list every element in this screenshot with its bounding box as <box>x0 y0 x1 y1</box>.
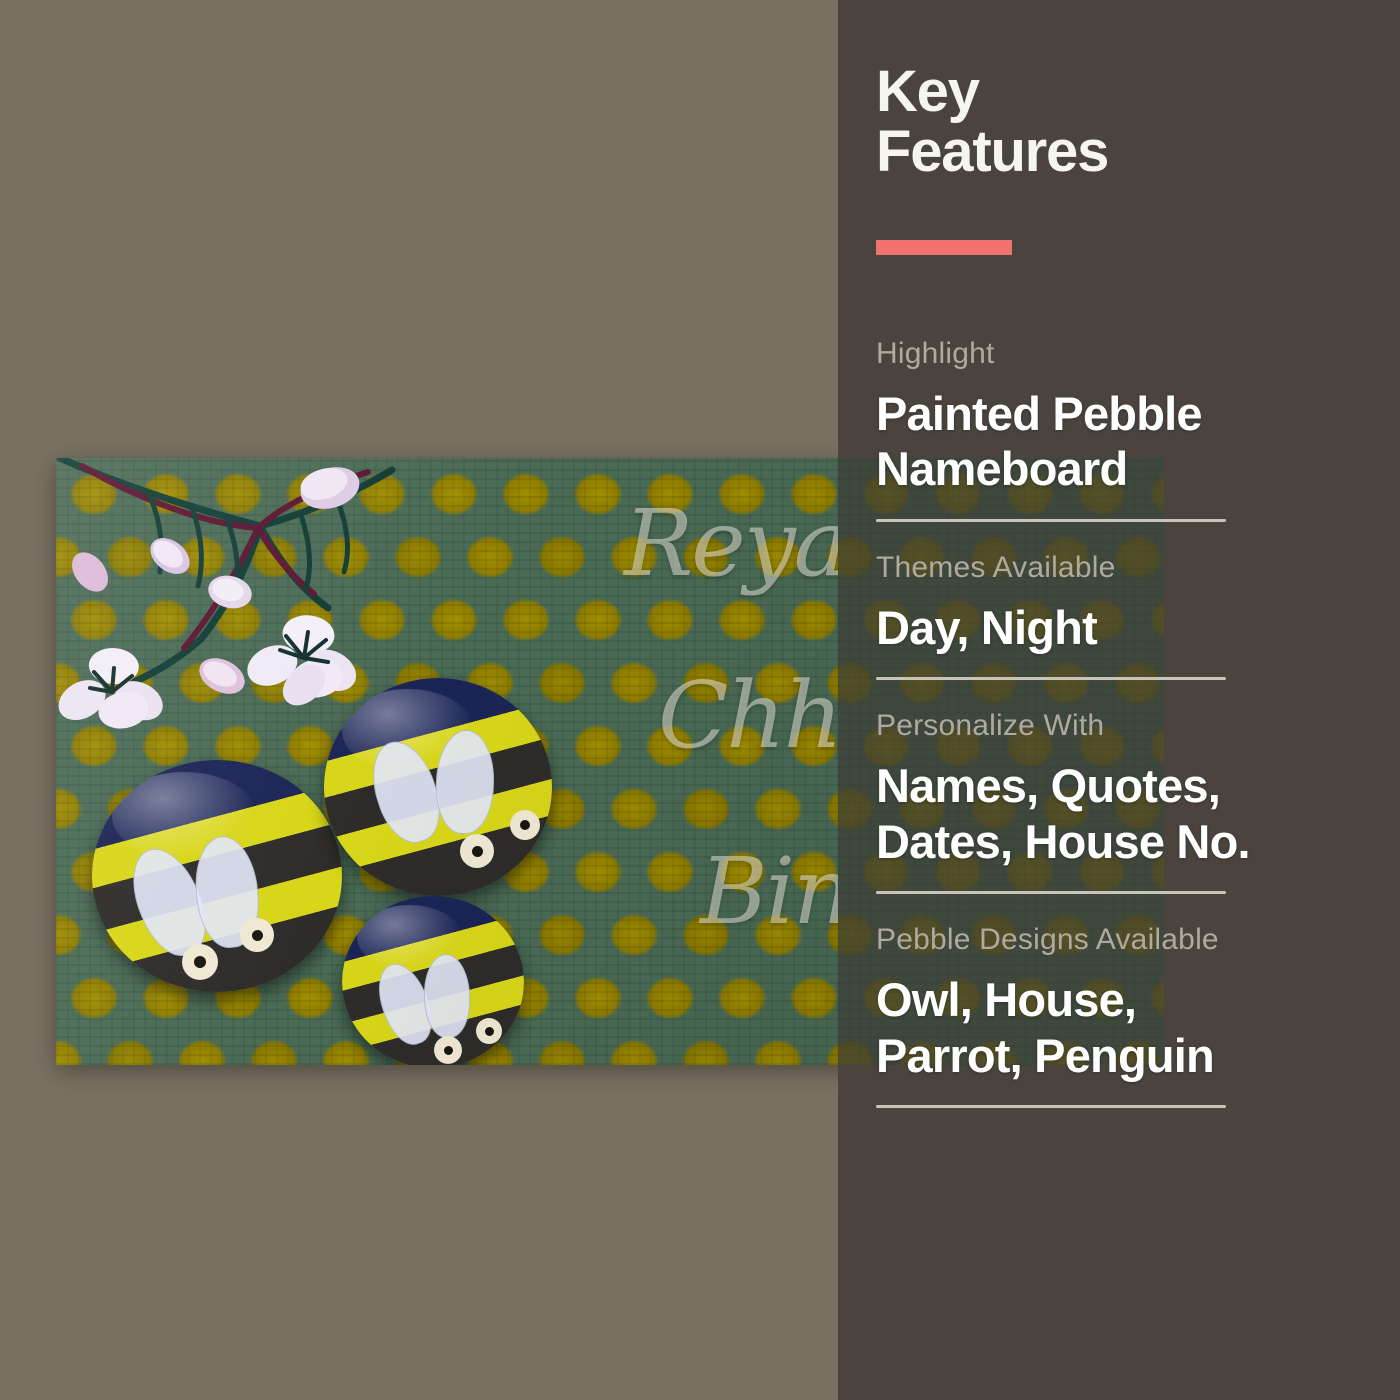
feature-value: Day, Night <box>876 600 1366 655</box>
page-title: Key Features <box>876 62 1356 183</box>
feature-value: Names, Quotes, Dates, House No. <box>876 758 1366 869</box>
feature-label: Highlight <box>876 336 1366 372</box>
feature-row-personalize-with: Personalize With Names, Quotes, Dates, H… <box>876 708 1366 894</box>
board-sheen <box>56 458 838 1065</box>
feature-value: Painted Pebble Nameboard <box>876 386 1366 497</box>
feature-row-themes-available: Themes Available Day, Night <box>876 550 1366 680</box>
feature-row-pebble-designs-available: Pebble Designs Available Owl, House, Par… <box>876 922 1366 1108</box>
poster-canvas: Reyansh Chhaya Binita Key Features Highl… <box>0 0 1400 1400</box>
feature-label: Themes Available <box>876 550 1366 586</box>
feature-divider <box>876 1105 1226 1108</box>
accent-bar <box>876 240 1012 255</box>
product-photo-stage <box>0 0 838 1400</box>
feature-divider <box>876 519 1226 522</box>
feature-row-highlight: Highlight Painted Pebble Nameboard <box>876 336 1366 522</box>
feature-label: Pebble Designs Available <box>876 922 1366 958</box>
feature-divider <box>876 677 1226 680</box>
feature-list: Highlight Painted Pebble Nameboard Theme… <box>876 336 1366 1108</box>
feature-value: Owl, House, Parrot, Penguin <box>876 972 1366 1083</box>
painted-nameboard-image <box>56 458 838 1065</box>
key-features-panel: Key Features Highlight Painted Pebble Na… <box>838 0 1400 1400</box>
feature-label: Personalize With <box>876 708 1366 744</box>
feature-divider <box>876 891 1226 894</box>
